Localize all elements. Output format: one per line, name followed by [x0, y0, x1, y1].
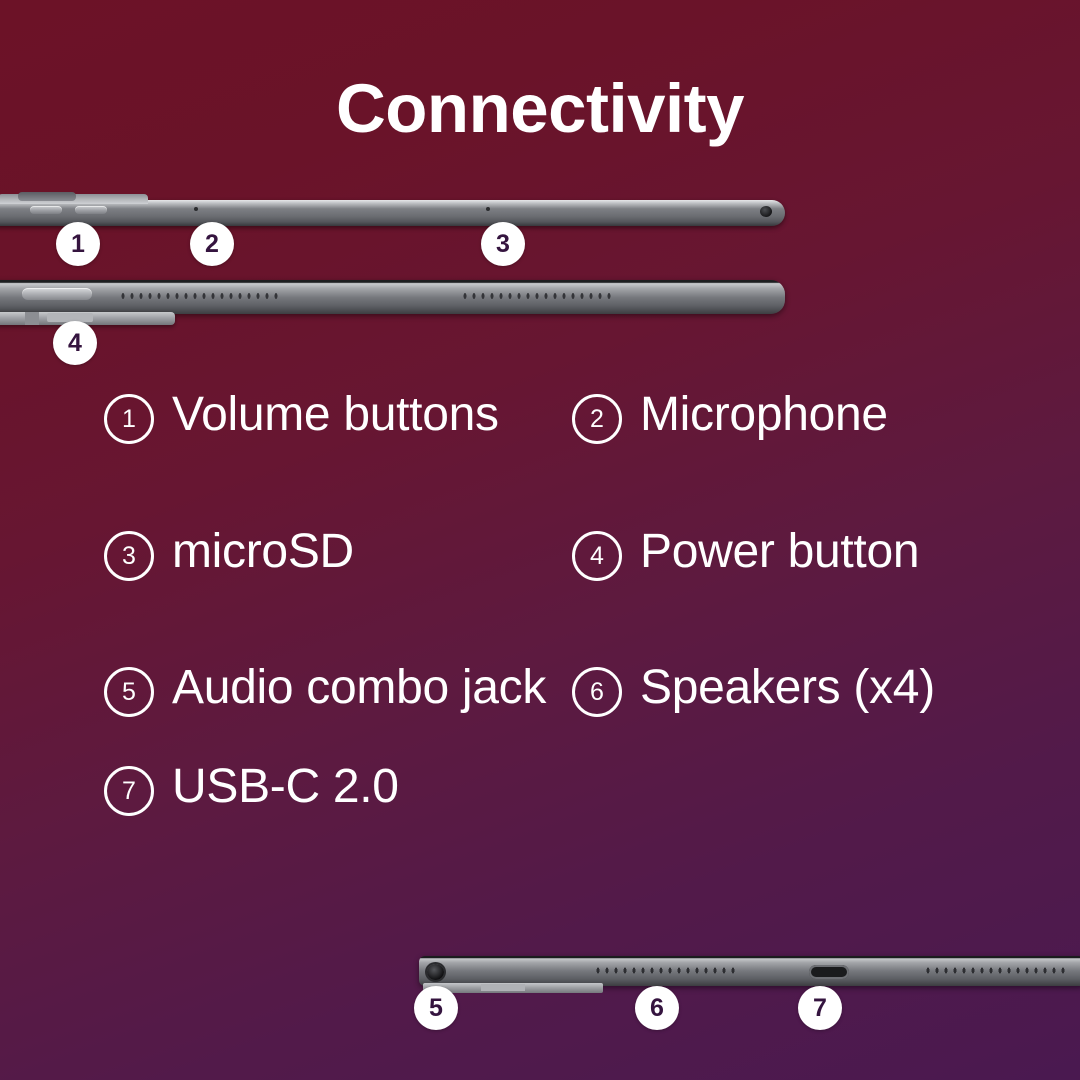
- legend-number-3: 3: [104, 531, 154, 581]
- microphone-hole: [194, 207, 198, 211]
- legend-number-4: 4: [572, 531, 622, 581]
- legend-label-1: Volume buttons: [172, 388, 499, 443]
- legend-number-2: 2: [572, 394, 622, 444]
- callout-badge-4: 4: [53, 321, 97, 365]
- legend-label-4: Power button: [640, 525, 919, 580]
- legend-number-1: 1: [104, 394, 154, 444]
- kickstand-hinge: [25, 312, 39, 325]
- legend-item-speakers: 6 Speakers (x4): [572, 661, 1002, 717]
- speaker-grille-left: [120, 292, 280, 300]
- legend-label-3: microSD: [172, 525, 354, 580]
- callout-badge-3: 3: [481, 222, 525, 266]
- audio-jack-port: [427, 964, 444, 980]
- volume-up-button: [30, 206, 62, 214]
- legend-item-usb-c: 7 USB-C 2.0: [104, 760, 572, 816]
- edge-port-hole: [760, 206, 772, 217]
- device-kickstand: [0, 312, 175, 325]
- callout-badge-2: 2: [190, 222, 234, 266]
- legend-list: 1 Volume buttons 2 Microphone 3 microSD …: [104, 388, 1014, 816]
- kickstand-notch: [481, 984, 525, 991]
- tablet-left-edge-photo: [0, 276, 790, 326]
- legend-item-power-button: 4 Power button: [572, 525, 1002, 581]
- legend-number-7: 7: [104, 766, 154, 816]
- legend-label-5: Audio combo jack: [172, 661, 546, 716]
- legend-row: 1 Volume buttons 2 Microphone: [104, 388, 1014, 444]
- power-button-shape: [22, 288, 92, 300]
- connectivity-infographic: Connectivity 1 2 3 4 1 Volume buttons: [0, 0, 1080, 1080]
- device-body: [0, 280, 785, 314]
- legend-item-microsd: 3 microSD: [104, 525, 572, 581]
- callout-badge-5: 5: [414, 986, 458, 1030]
- speaker-grille-right: [925, 966, 1065, 975]
- legend-number-5: 5: [104, 667, 154, 717]
- speaker-grille-right: [462, 292, 612, 300]
- legend-item-volume-buttons: 1 Volume buttons: [104, 388, 572, 444]
- legend-spacer: [104, 581, 1014, 661]
- callout-badge-1: 1: [56, 222, 100, 266]
- legend-number-6: 6: [572, 667, 622, 717]
- callout-badge-6: 6: [635, 986, 679, 1030]
- legend-spacer: [104, 717, 1014, 760]
- legend-item-microphone: 2 Microphone: [572, 388, 1002, 444]
- volume-down-button: [75, 206, 107, 214]
- tablet-bottom-edge-photo: [405, 952, 1080, 996]
- legend-row: 3 microSD 4 Power button: [104, 525, 1014, 581]
- usb-c-port: [809, 965, 849, 979]
- legend-item-audio-combo-jack: 5 Audio combo jack: [104, 661, 572, 717]
- callout-badge-7: 7: [798, 986, 842, 1030]
- legend-spacer: [104, 444, 1014, 525]
- legend-label-6: Speakers (x4): [640, 661, 935, 716]
- legend-row: 7 USB-C 2.0: [104, 760, 1014, 816]
- microsd-slot-hole: [486, 207, 490, 211]
- legend-label-2: Microphone: [640, 388, 888, 443]
- page-title: Connectivity: [0, 74, 1080, 143]
- legend-row: 5 Audio combo jack 6 Speakers (x4): [104, 661, 1014, 717]
- speaker-grille-left: [595, 966, 735, 975]
- legend-label-7: USB-C 2.0: [172, 760, 399, 815]
- camera-bump: [18, 192, 76, 201]
- tablet-top-edge-photo: [0, 194, 790, 228]
